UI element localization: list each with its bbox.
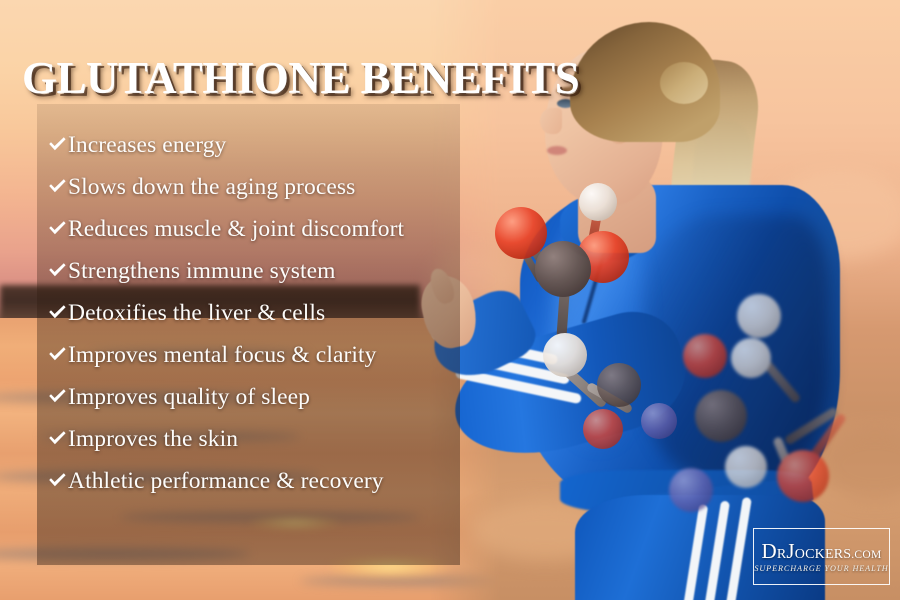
brand-name: DRJOCKERS.COM	[754, 539, 889, 565]
hydrogen-atom	[737, 294, 781, 338]
check-icon	[48, 303, 67, 322]
list-item: Improves the skin	[48, 426, 458, 468]
list-item-label: Improves quality of sleep	[68, 384, 310, 411]
brand-domain-suffix: .COM	[851, 548, 881, 560]
check-icon	[48, 135, 67, 154]
lips	[547, 146, 567, 155]
hydrogen-atom	[543, 333, 587, 377]
list-item: Improves mental focus & clarity	[48, 342, 458, 384]
list-item-label: Improves mental focus & clarity	[68, 342, 377, 369]
hydrogen-atom	[725, 446, 767, 488]
check-icon	[48, 345, 67, 364]
page-title: GLUTATHIONE BENEFITS	[22, 52, 579, 104]
list-item-label: Slows down the aging process	[68, 174, 355, 201]
carbon-atom	[597, 363, 641, 407]
glutathione-molecule-graphic-secondary	[735, 300, 900, 530]
list-item-label: Increases energy	[68, 132, 226, 159]
hydrogen-atom	[579, 183, 617, 221]
check-icon	[48, 219, 67, 238]
nose	[540, 108, 562, 134]
list-item-label: Detoxifies the liver & cells	[68, 300, 325, 327]
nitrogen-atom	[641, 403, 677, 439]
list-item: Strengthens immune system	[48, 258, 458, 300]
benefits-list: Increases energy Slows down the aging pr…	[48, 132, 458, 510]
check-icon	[48, 387, 67, 406]
brand-logo[interactable]: DRJOCKERS.COM SUPERCHARGE YOUR HEALTH	[753, 528, 890, 585]
brand-logo-content: DRJOCKERS.COM SUPERCHARGE YOUR HEALTH	[754, 539, 889, 572]
carbon-atom	[695, 390, 747, 442]
glutathione-molecule-graphic	[455, 185, 715, 435]
list-item: Increases energy	[48, 132, 458, 174]
nitrogen-atom	[669, 468, 713, 512]
hydrogen-atom	[731, 338, 771, 378]
carbon-atom	[535, 241, 591, 297]
infographic-canvas: GLUTATHIONE BENEFITS Increases energy Sl…	[0, 0, 900, 600]
pants-stripe	[704, 500, 730, 600]
brand-tagline: SUPERCHARGE YOUR HEALTH	[754, 563, 889, 572]
check-icon	[48, 471, 67, 490]
list-item: Slows down the aging process	[48, 174, 458, 216]
oxygen-atom	[777, 450, 829, 502]
check-icon	[48, 429, 67, 448]
check-icon	[48, 261, 67, 280]
check-icon	[48, 177, 67, 196]
brand-letter-j: J	[786, 538, 794, 562]
list-item-label: Improves the skin	[68, 426, 238, 453]
brand-jockers-rest: OCKERS	[795, 546, 851, 561]
list-item: Athletic performance & recovery	[48, 468, 458, 510]
list-item: Reduces muscle & joint discomfort	[48, 216, 458, 258]
oxygen-atom	[683, 334, 727, 378]
list-item-label: Strengthens immune system	[68, 258, 336, 285]
list-item-label: Reduces muscle & joint discomfort	[68, 216, 404, 243]
brand-letter-d: D	[761, 538, 776, 562]
oxygen-atom	[583, 409, 623, 449]
oxygen-atom	[495, 207, 547, 259]
list-item: Improves quality of sleep	[48, 384, 458, 426]
hair-tie-bun	[660, 62, 708, 104]
list-item-label: Athletic performance & recovery	[68, 468, 384, 495]
brand-letter-r: R	[777, 546, 787, 561]
list-item: Detoxifies the liver & cells	[48, 300, 458, 342]
